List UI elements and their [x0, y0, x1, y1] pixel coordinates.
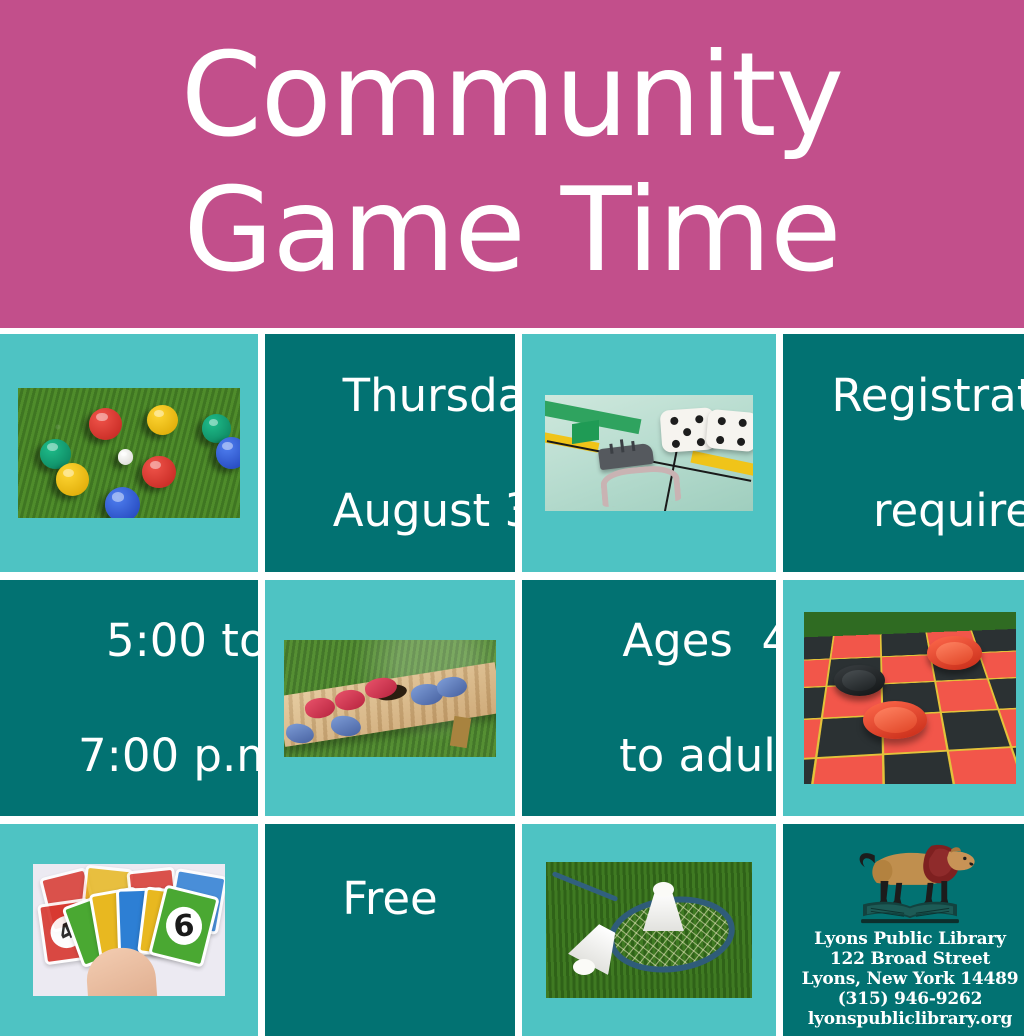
library-phone: (315) 946-9262 — [802, 990, 1019, 1010]
cornhole-board-with-bean-bags-photo — [284, 640, 496, 757]
event-time-line-1: 5:00 to — [106, 614, 258, 667]
die-right — [706, 409, 753, 453]
tile-price: Free — [265, 824, 515, 1036]
shuttlecock-on-grass-cork — [573, 959, 596, 975]
registration-line-1: Registration — [832, 369, 1024, 422]
flyer-title-line-1: Community — [181, 29, 843, 164]
bocce-balls-on-grass-photo — [18, 388, 240, 518]
monopoly-board-with-dice-photo — [545, 395, 753, 511]
tile-event-time: 5:00 to 7:00 p.m. — [0, 580, 258, 816]
event-date-line-2: August 31 — [333, 484, 515, 537]
event-date-text: Thursday August 31 — [265, 334, 515, 572]
bocce-ball-blue-right — [216, 437, 240, 468]
tile-event-date: Thursday August 31 — [265, 334, 515, 572]
tile-age-range: Ages 4 to adult — [522, 580, 776, 816]
tile-bocce-photo — [0, 334, 258, 572]
bocce-ball-yellow-left — [56, 463, 89, 496]
library-city-state-zip: Lyons, New York 14489 — [802, 970, 1019, 990]
uno-cards-in-hand-photo: 4 6 — [33, 864, 225, 996]
event-time-line-2: 7:00 p.m. — [78, 729, 258, 782]
tile-registration-notice: Registration required — [783, 334, 1024, 572]
age-range-line-2: to adult — [619, 729, 776, 782]
library-name: Lyons Public Library — [802, 930, 1019, 950]
library-logo-block: Lyons Public Library 122 Broad Street Ly… — [783, 824, 1024, 1036]
bocce-ball-blue-bottom — [105, 487, 141, 518]
tile-badminton-photo — [522, 824, 776, 1036]
event-flyer: Community Game Time Thursday August 3 — [0, 0, 1024, 1024]
bocce-ball-red-center — [142, 456, 175, 489]
badminton-racket-and-shuttlecocks-photo — [546, 862, 752, 998]
tile-cornhole-photo — [265, 580, 515, 816]
library-website[interactable]: lyonspubliclibrary.org — [802, 1010, 1019, 1030]
info-tile-grid: Thursday August 31 — [0, 334, 1024, 1024]
flyer-title-line-2: Game Time — [183, 164, 840, 299]
checkers-board-photo — [804, 612, 1016, 784]
registration-notice-text: Registration required — [783, 334, 1024, 572]
flyer-header: Community Game Time — [0, 0, 1024, 328]
tile-library-logo: Lyons Public Library 122 Broad Street Ly… — [783, 824, 1024, 1036]
tile-cards-photo: 4 6 — [0, 824, 258, 1036]
age-range-text: Ages 4 to adult — [522, 580, 776, 816]
price-text: Free — [342, 870, 438, 928]
registration-line-2: required — [873, 484, 1024, 537]
library-street: 122 Broad Street — [802, 950, 1019, 970]
event-time-text: 5:00 to 7:00 p.m. — [0, 580, 258, 816]
bocce-jack-ball-white — [118, 449, 134, 465]
tile-board-game-photo — [522, 334, 776, 572]
checker-piece-black — [834, 665, 885, 696]
checker-piece-red-bottom — [863, 701, 927, 739]
lion-on-open-book-icon — [841, 834, 979, 926]
bocce-ball-red — [89, 408, 122, 441]
event-date-line-1: Thursday — [343, 369, 515, 422]
green-hotel-piece — [572, 420, 599, 444]
age-range-line-1: Ages 4 — [622, 614, 776, 667]
tile-checkers-photo — [783, 580, 1024, 816]
library-contact-info: Lyons Public Library 122 Broad Street Ly… — [802, 930, 1019, 1029]
bocce-ball-yellow — [147, 405, 178, 435]
